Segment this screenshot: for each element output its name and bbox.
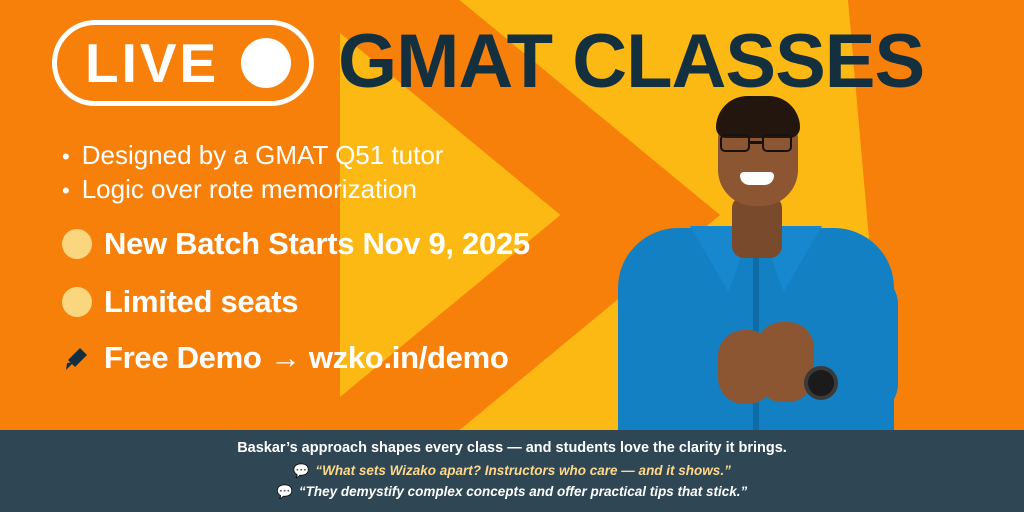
bullet-dot-icon: • (62, 142, 70, 171)
yellow-circle-icon (62, 229, 92, 259)
eyeglasses-bridge-icon (750, 141, 762, 144)
mouth (740, 172, 774, 185)
highlight-new-batch: New Batch Starts Nov 9, 2025 (62, 226, 530, 262)
testimonial-quote-1: 💬 “What sets Wizako apart? Instructors w… (293, 463, 731, 479)
list-item-label: Logic over rote memorization (82, 172, 417, 206)
speech-bubble-icon: 💬 (293, 463, 309, 479)
live-badge: LIVE (52, 20, 314, 106)
live-badge-label: LIVE (85, 36, 219, 91)
yellow-circle-icon (62, 287, 92, 317)
wristwatch-icon (804, 366, 838, 400)
highlight-label: Limited seats (104, 284, 298, 320)
testimonial-quote-text: “They demystify complex concepts and off… (299, 484, 747, 499)
list-item-label: Designed by a GMAT Q51 tutor (82, 138, 444, 172)
record-dot-icon (241, 38, 291, 88)
highlight-free-demo[interactable]: Free Demo → wzko.in/demo (62, 340, 509, 376)
bullet-dot-icon: • (62, 176, 70, 205)
testimonial-headline: Baskar’s approach shapes every class — a… (237, 440, 787, 456)
testimonial-quote-text: “What sets Wizako apart? Instructors who… (315, 463, 730, 478)
eyeglasses-left-lens-icon (720, 134, 750, 152)
eyeglasses-right-lens-icon (762, 134, 792, 152)
instructor-photo (606, 78, 906, 430)
feature-bullet-list: • Designed by a GMAT Q51 tutor • Logic o… (62, 138, 443, 207)
list-item: • Logic over rote memorization (62, 172, 443, 206)
highlight-limited-seats: Limited seats (62, 284, 298, 320)
testimonial-quote-2: 💬 “They demystify complex concepts and o… (277, 484, 748, 500)
highlight-label: Free Demo → wzko.in/demo (104, 340, 509, 376)
speech-bubble-icon: 💬 (277, 484, 293, 500)
gmat-classes-banner: LIVE GMAT CLASSES • Designed by a GMAT Q… (0, 0, 1024, 512)
pin-icon (62, 343, 92, 373)
testimonial-bar: Baskar’s approach shapes every class — a… (0, 430, 1024, 512)
highlight-label: New Batch Starts Nov 9, 2025 (104, 226, 530, 262)
hair (716, 96, 800, 138)
list-item: • Designed by a GMAT Q51 tutor (62, 138, 443, 172)
background-orange-right-edge (920, 0, 1024, 430)
